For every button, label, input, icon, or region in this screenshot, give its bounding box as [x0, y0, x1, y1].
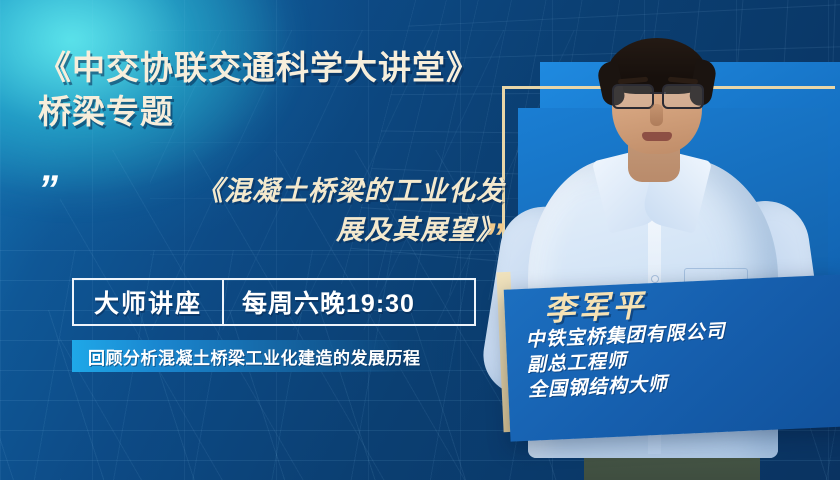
portrait-nose	[650, 104, 663, 126]
portrait-mouth	[642, 132, 672, 141]
promo-poster: 《中交协联交通科学大讲堂》 桥梁专题 ” 《混凝土桥梁的工业化发 展及其展望》 …	[0, 0, 840, 480]
title-line-2: 桥梁专题	[38, 90, 508, 134]
tagline-bar: 回顾分析混凝土桥梁工业化建造的发展历程	[72, 340, 472, 372]
quote-close-mark: ”	[484, 218, 502, 258]
quote-open-mark: ”	[38, 170, 56, 210]
lecture-subtitle: 《混凝土桥梁的工业化发 展及其展望》	[84, 172, 504, 250]
title-line-1: 《中交协联交通科学大讲堂》	[38, 49, 480, 86]
lecture-schedule-box: 大师讲座 每周六晚19:30	[72, 278, 476, 326]
lecture-time: 每周六晚19:30	[224, 284, 474, 320]
subtitle-line-1: 《混凝土桥梁的工业化发	[84, 172, 504, 211]
tagline-text: 回顾分析混凝土桥梁工业化建造的发展历程	[72, 344, 421, 369]
glasses-lens-right	[662, 84, 704, 109]
glasses-icon	[612, 84, 704, 106]
page-title: 《中交协联交通科学大讲堂》 桥梁专题	[38, 46, 508, 133]
speaker-info-content: 李军平 中铁宝桥集团有限公司 副总工程师 全国钢结构大师	[518, 281, 840, 404]
lecture-label: 大师讲座	[74, 284, 222, 320]
glasses-lens-left	[612, 84, 654, 109]
portrait-shirt-button	[652, 276, 658, 282]
subtitle-line-2: 展及其展望》	[84, 211, 504, 250]
